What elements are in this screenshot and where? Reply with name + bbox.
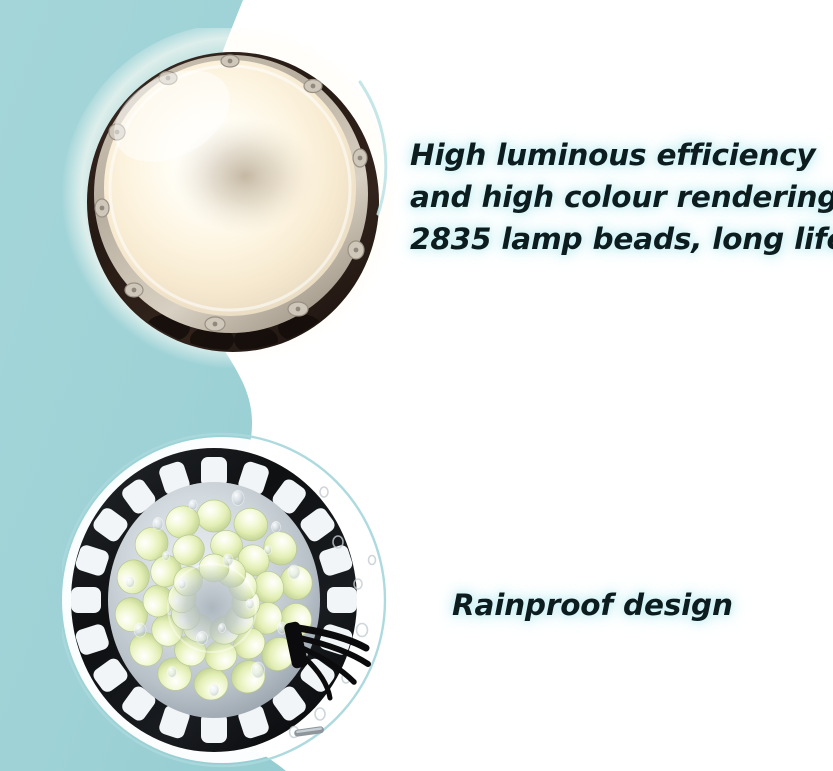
feature-headline-line-2: and high colour rendering [410,176,833,218]
photo-lit-high-bay-lamp [60,28,410,378]
feature-headline: High luminous efficiency and high colour… [410,134,833,260]
photo-rainproof-high-bay-lamp [62,432,402,771]
feature-headline-line-3: 2835 lamp beads, long life [410,218,833,260]
feature-headline-line-1: High luminous efficiency [410,134,833,176]
product-feature-banner: High luminous efficiency and high colour… [0,0,833,771]
rainproof-headline: Rainproof design [452,584,733,626]
